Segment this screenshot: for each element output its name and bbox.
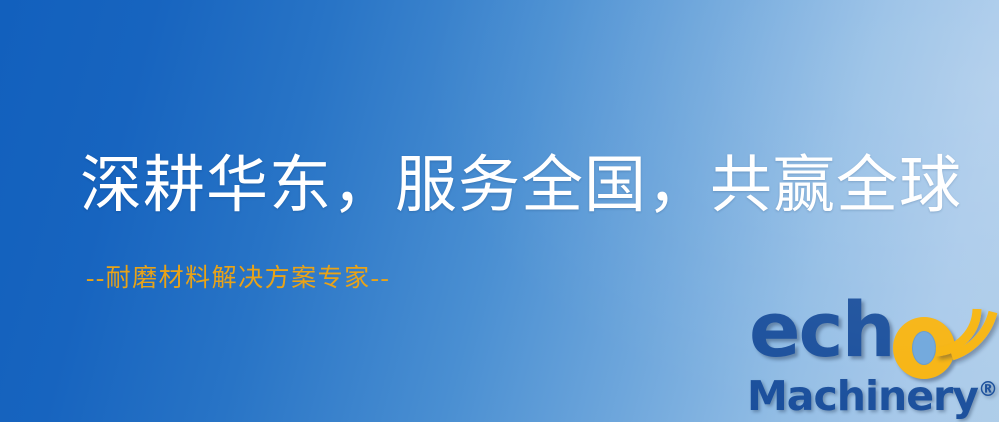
hero-banner: 深耕华东，服务全国，共赢全球 --耐磨材料解决方案专家-- ech Machin… [0, 0, 999, 422]
banner-subtitle: --耐磨材料解决方案专家-- [86, 266, 390, 291]
logo-subtext-label: Machinery [747, 372, 978, 420]
banner-headline: 深耕华东，服务全国，共赢全球 [80, 155, 962, 217]
logo-wordmark-ech: ech [749, 292, 894, 368]
logo-subtext: Machinery® [747, 376, 998, 417]
echo-wave-icon [930, 290, 999, 366]
echo-machinery-logo[interactable]: ech Machinery® [745, 296, 999, 422]
registered-trademark-icon: ® [978, 377, 998, 401]
